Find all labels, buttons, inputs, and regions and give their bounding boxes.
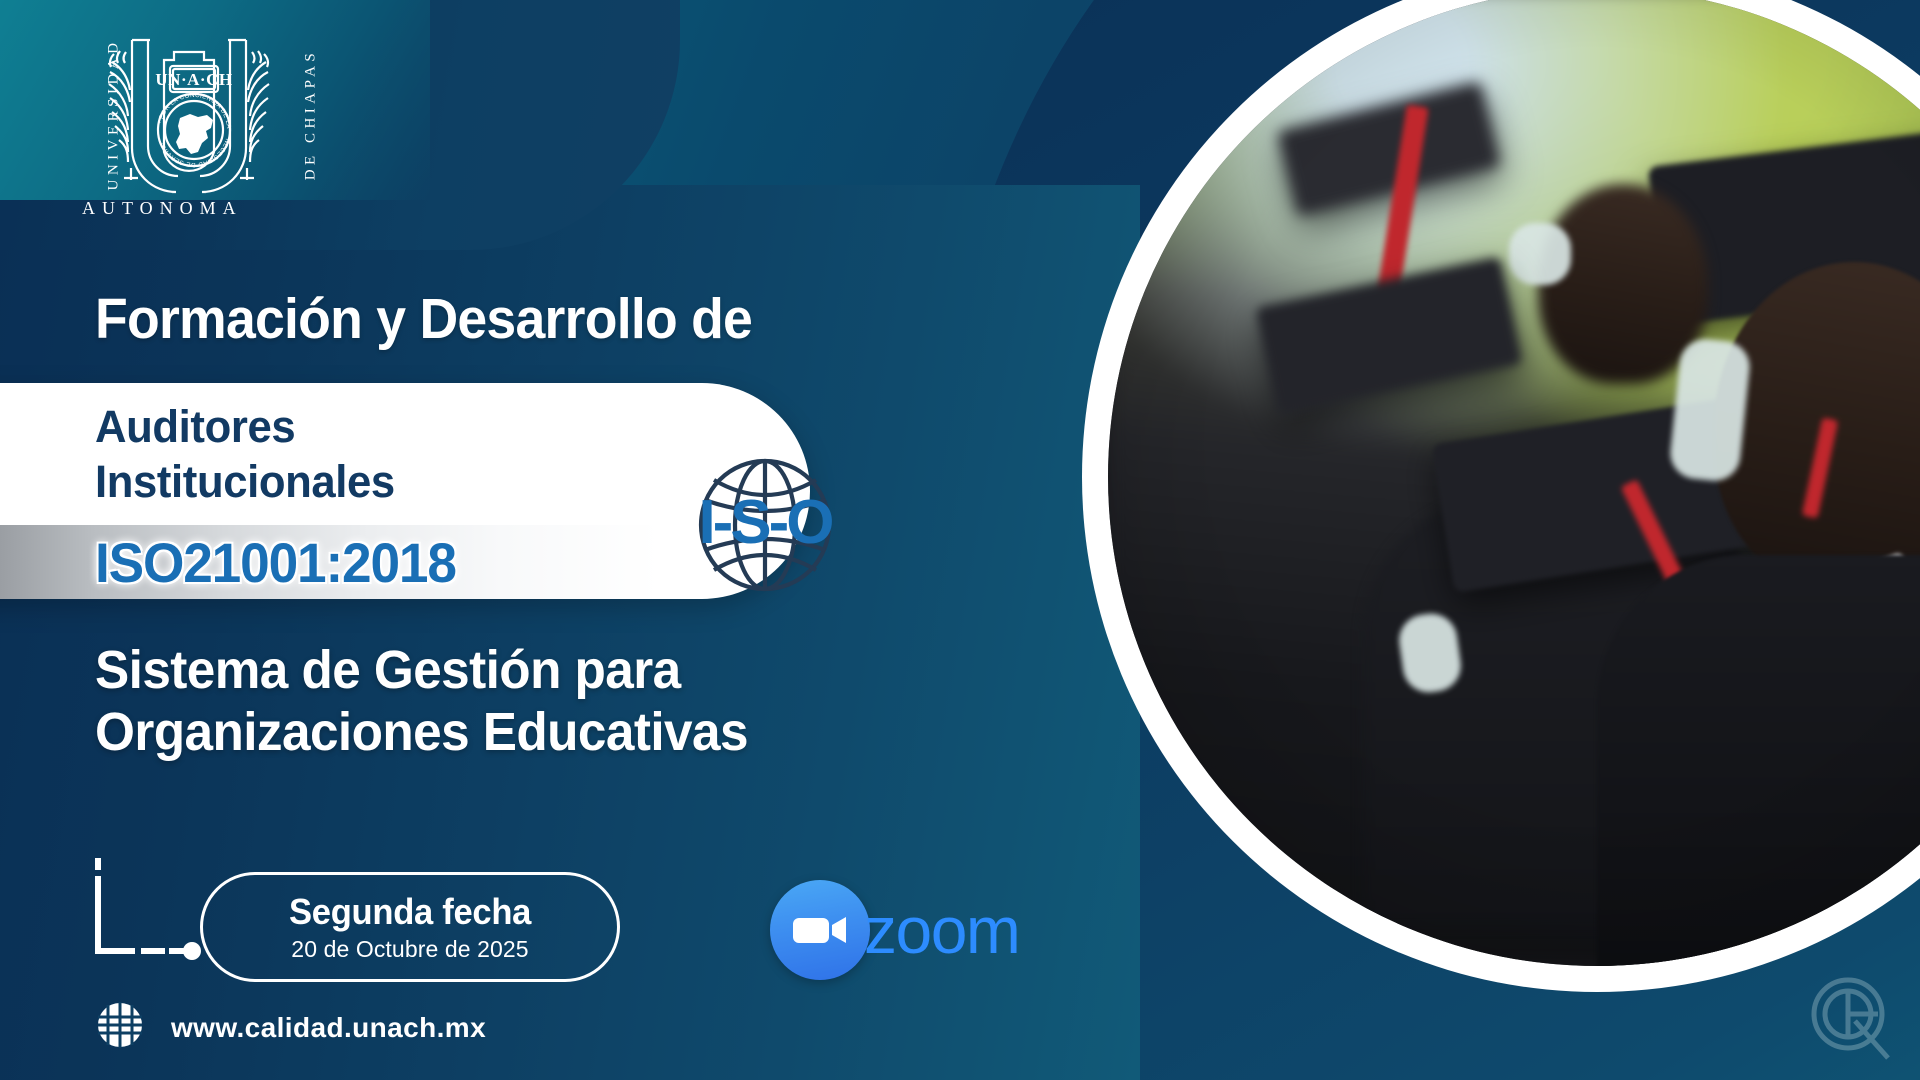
- course-title: Auditores Institucionales: [95, 400, 395, 510]
- course-title-line-2: Institucionales: [95, 455, 395, 510]
- iso-standard-code: ISO21001:2018: [95, 530, 456, 595]
- website-url: www.calidad.unach.mx: [171, 1012, 486, 1044]
- poster-headline: Formación y Desarrollo de: [95, 290, 752, 350]
- quality-q-watermark: [1800, 966, 1900, 1066]
- svg-text:UN·A·CH: UN·A·CH: [155, 70, 232, 89]
- course-title-line-1: Auditores: [95, 400, 395, 455]
- poster-subhead: Sistema de Gestión para Organizaciones E…: [95, 640, 748, 763]
- globe-icon: [95, 1000, 145, 1055]
- poster-canvas: UN·A·CH · POR LA CONCIENCIA DE LA NECESI…: [0, 0, 1920, 1080]
- date-label: Segunda fecha: [289, 891, 531, 933]
- unach-shield-logo: UN·A·CH · POR LA CONCIENCIA DE LA NECESI…: [60, 18, 360, 218]
- logo-word-universidad: UNIVERSIDAD: [106, 39, 123, 191]
- photo-vignette: [1108, 0, 1920, 966]
- logo-word-de-chiapas: DE CHIAPAS: [302, 49, 319, 181]
- zoom-video-camera-icon: [770, 880, 870, 980]
- iso-globe-icon: I-S-O: [680, 440, 850, 610]
- subhead-line-2: Organizaciones Educativas: [95, 702, 748, 764]
- zoom-logo[interactable]: zoom: [770, 880, 1019, 980]
- graduation-photo: [1108, 0, 1920, 966]
- zoom-wordmark: zoom: [864, 892, 1019, 968]
- subhead-line-1: Sistema de Gestión para: [95, 640, 748, 702]
- logo-word-autonoma: AUTONOMA: [82, 198, 243, 219]
- iso-badge-text: I-S-O: [698, 488, 832, 557]
- date-value: 20 de Octubre de 2025: [291, 936, 528, 963]
- date-pill[interactable]: Segunda fecha 20 de Octubre de 2025: [200, 872, 620, 982]
- website-row[interactable]: www.calidad.unach.mx: [95, 1000, 486, 1055]
- dashed-corner-decoration: [88, 855, 208, 975]
